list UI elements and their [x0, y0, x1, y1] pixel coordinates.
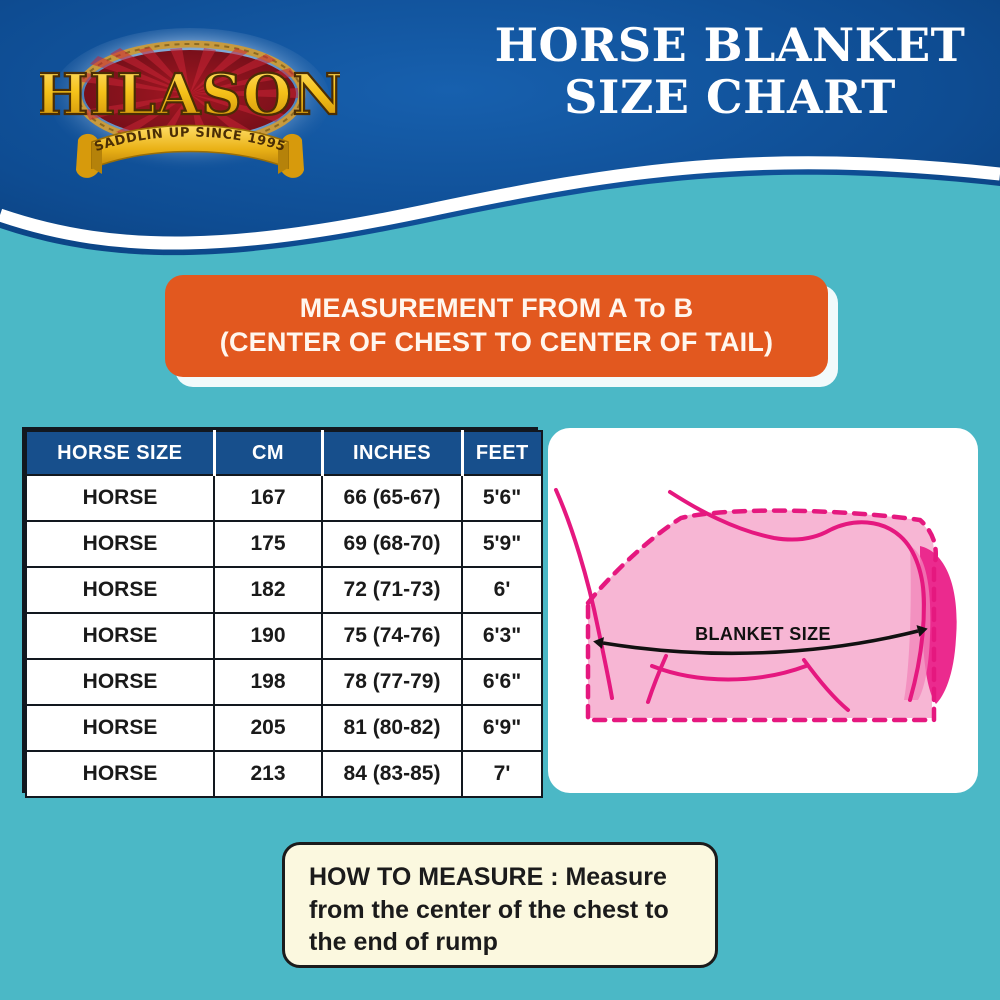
how-to-measure-text: HOW TO MEASURE : Measure from the center…	[309, 863, 669, 956]
cell-inches: 72 (71-73)	[322, 567, 462, 613]
cell-inches: 81 (80-82)	[322, 705, 462, 751]
table-row: HORSE 213 84 (83-85) 7'	[26, 751, 542, 797]
cell-size: HORSE	[26, 613, 214, 659]
cell-cm: 198	[214, 659, 322, 705]
horse-illustration-panel: BLANKET SIZE	[548, 428, 978, 793]
cell-inches: 78 (77-79)	[322, 659, 462, 705]
size-table-container: HORSE SIZE CM INCHES FEET HORSE 167 66 (…	[22, 427, 538, 793]
table-row: HORSE 205 81 (80-82) 6'9"	[26, 705, 542, 751]
cell-feet: 5'6"	[462, 475, 542, 521]
page-title: HORSE BLANKET SIZE CHART	[470, 20, 990, 123]
cell-cm: 205	[214, 705, 322, 751]
cell-size: HORSE	[26, 705, 214, 751]
cell-inches: 66 (65-67)	[322, 475, 462, 521]
table-row: HORSE 167 66 (65-67) 5'6"	[26, 475, 542, 521]
cell-size: HORSE	[26, 567, 214, 613]
table-header-row: HORSE SIZE CM INCHES FEET	[26, 431, 542, 475]
horse-blanket-diagram	[548, 428, 978, 793]
cell-inches: 69 (68-70)	[322, 521, 462, 567]
cell-size: HORSE	[26, 475, 214, 521]
column-header-inches: INCHES	[322, 431, 462, 475]
measurement-banner: MEASUREMENT FROM A To B (CENTER OF CHEST…	[165, 275, 828, 377]
size-table-body: HORSE 167 66 (65-67) 5'6" HORSE 175 69 (…	[26, 475, 542, 797]
hilason-logo: HILASON SADDLIN UP SINCE 1995	[40, 22, 340, 192]
size-table: HORSE SIZE CM INCHES FEET HORSE 167 66 (…	[25, 430, 543, 798]
column-header-horse-size: HORSE SIZE	[26, 431, 214, 475]
cell-inches: 84 (83-85)	[322, 751, 462, 797]
blanket-area-fill	[588, 510, 934, 718]
cell-cm: 175	[214, 521, 322, 567]
cell-inches: 75 (74-76)	[322, 613, 462, 659]
table-row: HORSE 175 69 (68-70) 5'9"	[26, 521, 542, 567]
cell-feet: 5'9"	[462, 521, 542, 567]
table-row: HORSE 190 75 (74-76) 6'3"	[26, 613, 542, 659]
cell-feet: 6'	[462, 567, 542, 613]
logo-wordmark: HILASON	[40, 62, 340, 128]
table-row: HORSE 198 78 (77-79) 6'6"	[26, 659, 542, 705]
table-row: HORSE 182 72 (71-73) 6'	[26, 567, 542, 613]
cell-feet: 6'6"	[462, 659, 542, 705]
cell-size: HORSE	[26, 521, 214, 567]
cell-cm: 167	[214, 475, 322, 521]
banner-line-2: (CENTER OF CHEST TO CENTER OF TAIL)	[220, 326, 774, 360]
cell-size: HORSE	[26, 659, 214, 705]
cell-cm: 182	[214, 567, 322, 613]
cell-feet: 6'3"	[462, 613, 542, 659]
cell-cm: 213	[214, 751, 322, 797]
column-header-cm: CM	[214, 431, 322, 475]
banner-line-1: MEASUREMENT FROM A To B	[300, 292, 694, 326]
cell-feet: 6'9"	[462, 705, 542, 751]
cell-size: HORSE	[26, 751, 214, 797]
size-chart-page: HILASON SADDLIN UP SINCE 1995 HORSE BLAN…	[0, 0, 1000, 1000]
column-header-feet: FEET	[462, 431, 542, 475]
page-title-line2: SIZE CHART	[470, 72, 990, 124]
cell-feet: 7'	[462, 751, 542, 797]
cell-cm: 190	[214, 613, 322, 659]
how-to-measure-note: HOW TO MEASURE : Measure from the center…	[282, 842, 718, 968]
page-title-line1: HORSE BLANKET	[495, 18, 966, 72]
